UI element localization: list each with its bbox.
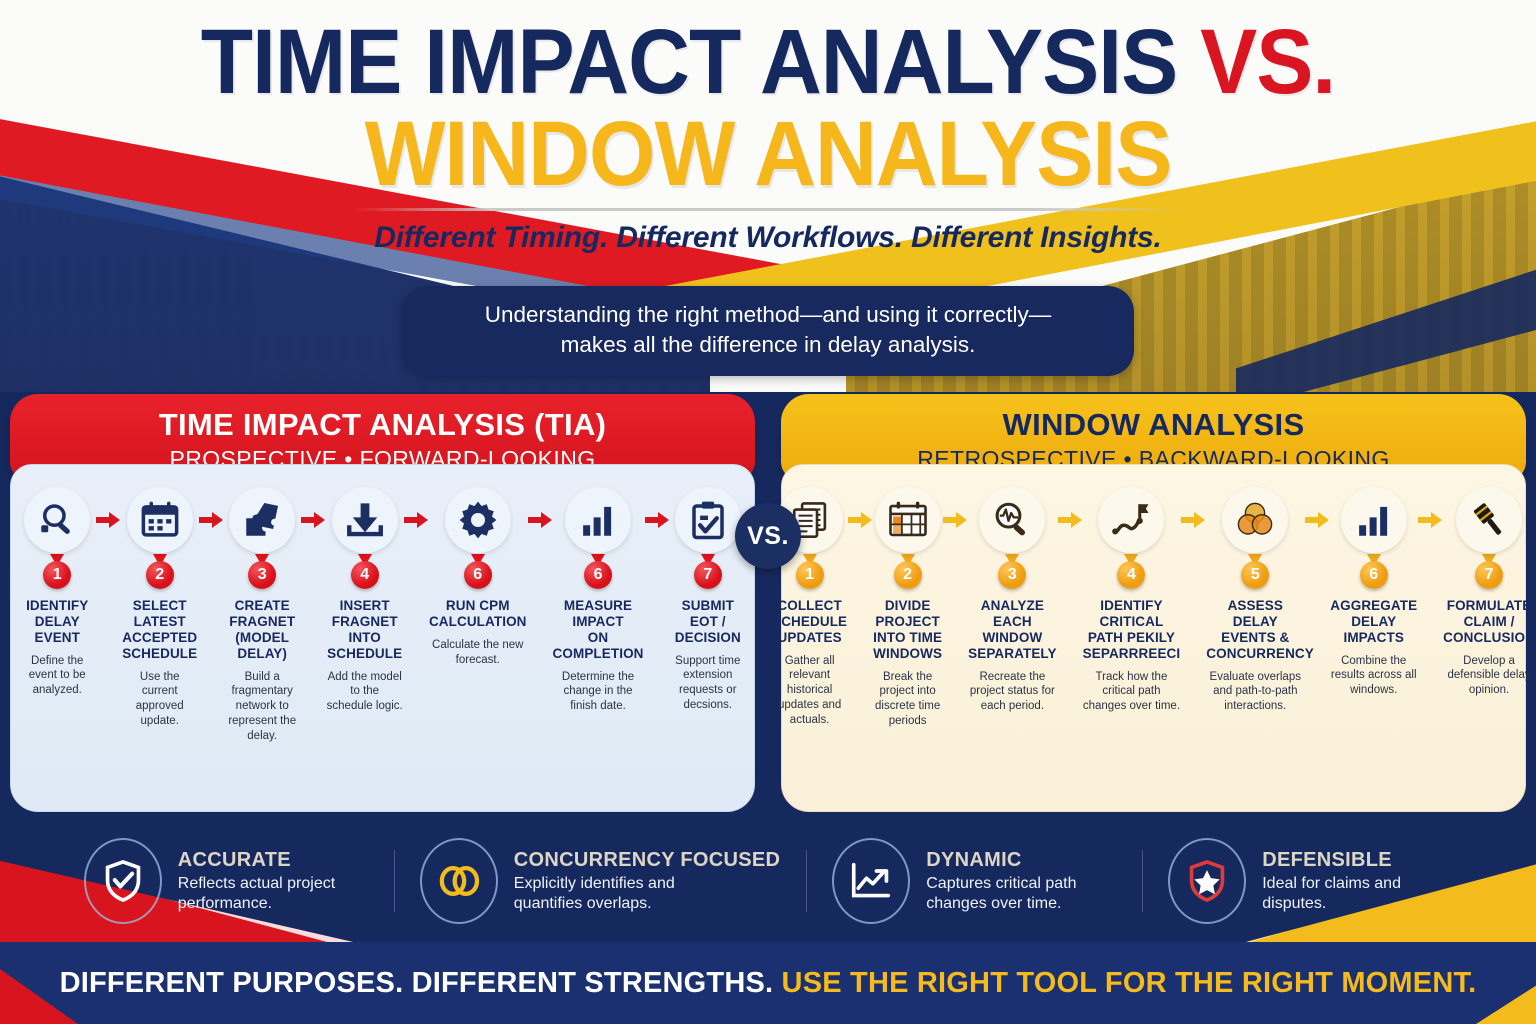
step-number-badge: 3 xyxy=(248,561,276,589)
linked-rings-icon xyxy=(420,838,498,924)
flow-arrow xyxy=(198,487,224,553)
step-number-badge: 2 xyxy=(146,561,174,589)
calendar-icon xyxy=(127,487,193,553)
step-description: Break the project into discrete time per… xyxy=(873,670,942,729)
step-number-badge: 6 xyxy=(584,561,612,589)
venn-circles-icon xyxy=(1222,487,1288,553)
panel-time-impact-analysis: TIME IMPACT ANALYSIS (TIA) PROSPECTIVE •… xyxy=(10,394,755,812)
flow-arrow xyxy=(403,487,429,553)
feature-description: Explicitly identifies and quantifies ove… xyxy=(514,874,704,914)
feature-text: DYNAMICCaptures critical path changes ov… xyxy=(926,849,1116,914)
step-number-badge: 1 xyxy=(796,561,824,589)
flow-arrow xyxy=(644,487,670,553)
vs-badge: VS. xyxy=(735,503,801,569)
gear-icon xyxy=(445,487,511,553)
step-description: Combine the results across all windows. xyxy=(1330,654,1417,698)
feature-item: DYNAMICCaptures critical path changes ov… xyxy=(806,838,1142,924)
process-step[interactable]: 7SUBMIT EOT /DECISIONSupport time extens… xyxy=(670,487,746,713)
step-number-badge: 7 xyxy=(694,561,722,589)
step-title: SELECT LATESTACCEPTEDSCHEDULE xyxy=(121,598,197,662)
analysis-magnifier-icon xyxy=(979,487,1045,553)
feature-text: DEFENSIBLEIdeal for claims and disputes. xyxy=(1262,849,1452,914)
step-title: IDENTIFYDELAY EVENT xyxy=(19,598,95,646)
feature-strip: ACCURATEReflects actual project performa… xyxy=(0,818,1536,944)
feature-title: CONCURRENCY FOCUSED xyxy=(514,849,780,872)
footer-banner: DIFFERENT PURPOSES. DIFFERENT STRENGTHS.… xyxy=(0,942,1536,1024)
step-description: Gather all relevant historical updates a… xyxy=(772,654,847,728)
comparison-panels: TIME IMPACT ANALYSIS (TIA) PROSPECTIVE •… xyxy=(0,388,1536,818)
main-title-text: TIME IMPACT ANALYSIS xyxy=(201,11,1178,113)
flow-arrow xyxy=(1180,487,1206,553)
step-title: AGGREGATE DELAYIMPACTS xyxy=(1330,598,1417,646)
panel-title-window: WINDOW ANALYSIS xyxy=(781,407,1526,443)
feature-title: DYNAMIC xyxy=(926,849,1116,872)
step-title: MEASURE IMPACTON COMPLETION xyxy=(553,598,644,662)
step-number-badge: 1 xyxy=(43,561,71,589)
footer-text-white: DIFFERENT PURPOSES. DIFFERENT STRENGTHS. xyxy=(60,967,774,999)
flow-arrow xyxy=(1304,487,1330,553)
panel-body-tia: 1IDENTIFYDELAY EVENTDefine the event to … xyxy=(10,464,755,812)
step-number-badge: 5 xyxy=(1241,561,1269,589)
process-step[interactable]: 3CREATE FRAGNET(MODEL DELAY)Build a frag… xyxy=(224,487,300,743)
step-title: CREATE FRAGNET(MODEL DELAY) xyxy=(224,598,300,662)
path-flag-icon xyxy=(1098,487,1164,553)
step-description: Support time extension requests or decsi… xyxy=(670,654,746,713)
download-icon xyxy=(332,487,398,553)
flow-arrow xyxy=(527,487,553,553)
puzzle-icon xyxy=(229,487,295,553)
feature-title: ACCURATE xyxy=(178,849,368,872)
step-title: FORMULATE CLAIM /CONCLUSION xyxy=(1443,598,1535,646)
feature-description: Captures critical path changes over time… xyxy=(926,874,1116,914)
step-number-badge: 6 xyxy=(1360,561,1388,589)
step-number-badge: 4 xyxy=(1117,561,1145,589)
footer-text: DIFFERENT PURPOSES. DIFFERENT STRENGTHS.… xyxy=(60,967,1477,1000)
title-divider xyxy=(354,208,1182,211)
flow-arrow xyxy=(1417,487,1443,553)
step-number-badge: 7 xyxy=(1475,561,1503,589)
main-title-line-1: TIME IMPACT ANALYSIS VS. xyxy=(54,18,1482,106)
main-title-line-2: WINDOW ANALYSIS xyxy=(54,108,1482,200)
shield-check-icon xyxy=(84,838,162,924)
bar-chart-icon xyxy=(565,487,631,553)
feature-item: ACCURATEReflects actual project performa… xyxy=(58,838,394,924)
flow-arrow xyxy=(847,487,873,553)
step-description: Add the model to the schedule logic. xyxy=(326,670,402,714)
process-step[interactable]: 6AGGREGATE DELAYIMPACTSCombine the resul… xyxy=(1330,487,1417,698)
feature-item: DEFENSIBLEIdeal for claims and disputes. xyxy=(1142,838,1478,924)
callout-line-1: Understanding the right method—and using… xyxy=(430,300,1106,330)
step-title: DIVIDE PROJECTINTO TIMEWINDOWS xyxy=(873,598,942,662)
process-step[interactable]: 7FORMULATE CLAIM /CONCLUSIONDevelop a de… xyxy=(1443,487,1535,698)
feature-title: DEFENSIBLE xyxy=(1262,849,1452,872)
infographic-poster: TIME IMPACT ANALYSIS VS. WINDOW ANALYSIS… xyxy=(0,0,1536,1024)
shield-star-icon xyxy=(1168,838,1246,924)
step-number-badge: 4 xyxy=(351,561,379,589)
feature-description: Reflects actual project performance. xyxy=(178,874,368,914)
step-title: INSERT FRAGNETINTO SCHEDULE xyxy=(326,598,402,662)
step-description: Evaluate overlaps and path-to-path inter… xyxy=(1206,670,1304,714)
calendar-grid-icon xyxy=(875,487,941,553)
process-step[interactable]: 2DIVIDE PROJECTINTO TIMEWINDOWSBreak the… xyxy=(873,487,942,729)
step-description: Calculate the new forecast. xyxy=(429,638,527,667)
subtitle: Different Timing. Different Workflows. D… xyxy=(0,221,1536,255)
step-description: Determine the change in the finish date. xyxy=(553,670,644,714)
process-step[interactable]: 4IDENTIFY CRITICALPATH PEKILYSEPARRREECI… xyxy=(1083,487,1181,714)
step-title: SUBMIT EOT /DECISION xyxy=(670,598,746,646)
step-description: Define the event to be analyzed. xyxy=(19,654,95,698)
step-title: COLLECTSCHEDULEUPDATES xyxy=(772,598,847,646)
callout-box: Understanding the right method—and using… xyxy=(402,286,1134,376)
process-step[interactable]: 5ASSESS DELAYEVENTS &CONCURRENCYEvaluate… xyxy=(1206,487,1304,714)
process-step[interactable]: 6RUN CPMCALCULATIONCalculate the new for… xyxy=(429,487,527,667)
feature-description: Ideal for claims and disputes. xyxy=(1262,874,1452,914)
gavel-icon xyxy=(1456,487,1522,553)
flow-arrow xyxy=(1057,487,1083,553)
step-description: Recreate the project status for each per… xyxy=(968,670,1057,714)
process-step[interactable]: 6MEASURE IMPACTON COMPLETIONDetermine th… xyxy=(553,487,644,714)
feature-text: CONCURRENCY FOCUSEDExplicitly identifies… xyxy=(514,849,780,914)
feature-item: CONCURRENCY FOCUSEDExplicitly identifies… xyxy=(394,838,806,924)
flow-arrow xyxy=(942,487,968,553)
panel-window-analysis: WINDOW ANALYSIS RETROSPECTIVE • BACKWARD… xyxy=(781,394,1526,812)
step-number-badge: 2 xyxy=(894,561,922,589)
trend-chart-icon xyxy=(832,838,910,924)
magnifier-icon xyxy=(24,487,90,553)
process-step[interactable]: 3ANALYZE EACHWINDOWSEPARATELYRecreate th… xyxy=(968,487,1057,714)
feature-text: ACCURATEReflects actual project performa… xyxy=(178,849,368,914)
panel-title-tia: TIME IMPACT ANALYSIS (TIA) xyxy=(10,407,755,443)
step-description: Track how the critical path changes over… xyxy=(1083,670,1181,714)
step-title: ASSESS DELAYEVENTS &CONCURRENCY xyxy=(1206,598,1304,662)
step-description: Develop a defensible delay opinion. xyxy=(1443,654,1535,698)
process-step[interactable]: 2SELECT LATESTACCEPTEDSCHEDULEUse the cu… xyxy=(121,487,197,729)
bar-chart-icon xyxy=(1341,487,1407,553)
step-description: Use the current approved update. xyxy=(121,670,197,729)
step-title: IDENTIFY CRITICALPATH PEKILYSEPARRREECI xyxy=(1083,598,1181,662)
process-step[interactable]: 1IDENTIFYDELAY EVENTDefine the event to … xyxy=(19,487,95,698)
flow-arrow xyxy=(95,487,121,553)
process-step[interactable]: 4INSERT FRAGNETINTO SCHEDULEAdd the mode… xyxy=(326,487,402,714)
main-title-vs: VS. xyxy=(1200,11,1335,113)
callout-line-2: makes all the difference in delay analys… xyxy=(430,330,1106,360)
step-title: ANALYZE EACHWINDOWSEPARATELY xyxy=(968,598,1057,662)
panel-body-window: 1COLLECTSCHEDULEUPDATESGather all releva… xyxy=(781,464,1526,812)
step-number-badge: 6 xyxy=(464,561,492,589)
step-description: Build a fragmentary network to represent… xyxy=(224,670,300,744)
step-title: RUN CPMCALCULATION xyxy=(429,598,527,630)
flow-arrow xyxy=(300,487,326,553)
title-block: TIME IMPACT ANALYSIS VS. WINDOW ANALYSIS… xyxy=(0,18,1536,255)
clipboard-check-icon xyxy=(675,487,741,553)
footer-text-gold: USE THE RIGHT TOOL FOR THE RIGHT MOMENT. xyxy=(782,967,1477,999)
step-number-badge: 3 xyxy=(998,561,1026,589)
